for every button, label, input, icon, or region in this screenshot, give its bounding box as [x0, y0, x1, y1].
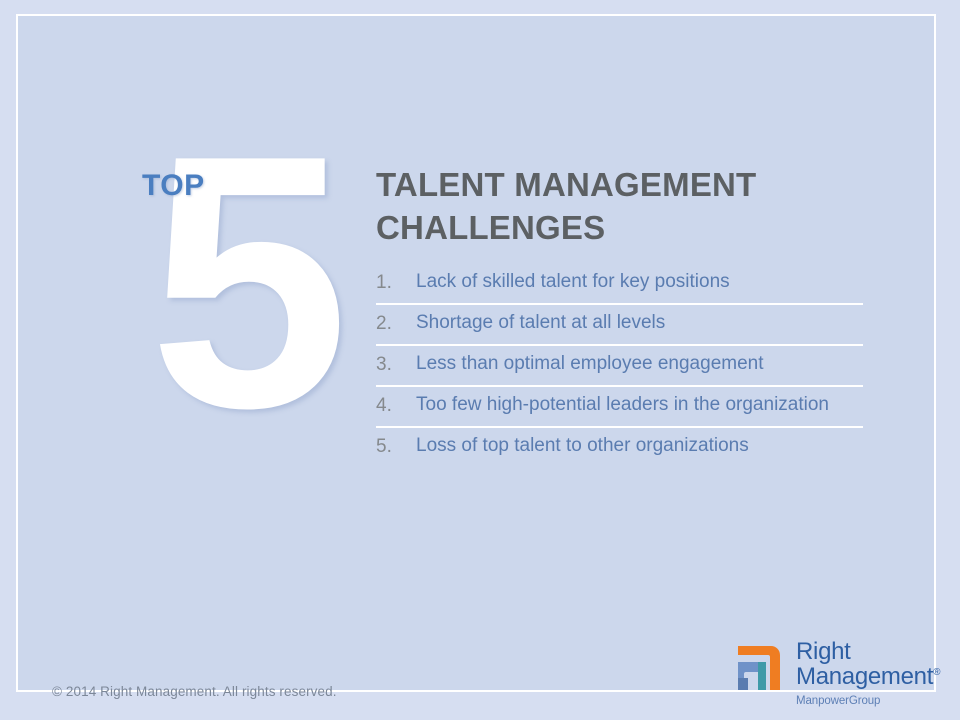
top-five-graphic: 5 TOP	[122, 136, 372, 436]
list-item-number: 2.	[376, 310, 416, 338]
logo-management-text: Management	[796, 663, 933, 690]
list-item: 2. Shortage of talent at all levels	[376, 305, 863, 346]
list-item: 1. Lack of skilled talent for key positi…	[376, 264, 863, 305]
list-item: 3. Less than optimal employee engagement	[376, 346, 863, 387]
top-label: TOP	[142, 169, 205, 203]
right-management-logo-mark	[734, 642, 786, 694]
logo-tagline: ManpowerGroup	[796, 695, 926, 707]
logo-wordmark: Right Management® ManpowerGroup	[796, 640, 926, 707]
list-item-number: 1.	[376, 269, 416, 297]
list-item-text: Shortage of talent at all levels	[416, 310, 863, 337]
list-item-number: 5.	[376, 433, 416, 461]
list-item-text: Less than optimal employee engagement	[416, 351, 863, 378]
slide-inner-frame: 5 TOP TALENT MANAGEMENT CHALLENGES 1. La…	[16, 14, 936, 692]
list-item: 4. Too few high-potential leaders in the…	[376, 387, 863, 428]
logo-line-management: Management®	[796, 665, 926, 690]
list-item-text: Loss of top talent to other organization…	[416, 433, 863, 460]
list-item: 5. Loss of top talent to other organizat…	[376, 428, 863, 467]
right-management-logo: Right Management® ManpowerGroup	[734, 640, 924, 712]
big-number-5: 5	[122, 102, 372, 462]
list-item-text: Lack of skilled talent for key positions	[416, 269, 863, 296]
list-item-text: Too few high-potential leaders in the or…	[416, 392, 863, 419]
copyright-notice: © 2014 Right Management. All rights rese…	[52, 684, 337, 699]
slide-canvas: 5 TOP TALENT MANAGEMENT CHALLENGES 1. La…	[0, 0, 960, 720]
page-title: TALENT MANAGEMENT CHALLENGES	[376, 164, 816, 250]
list-item-number: 4.	[376, 392, 416, 420]
registered-trademark-icon: ®	[933, 667, 940, 678]
list-item-number: 3.	[376, 351, 416, 379]
challenges-list: 1. Lack of skilled talent for key positi…	[376, 264, 863, 467]
logo-line-right: Right	[796, 640, 926, 665]
content-column: TALENT MANAGEMENT CHALLENGES 1. Lack of …	[376, 164, 876, 467]
